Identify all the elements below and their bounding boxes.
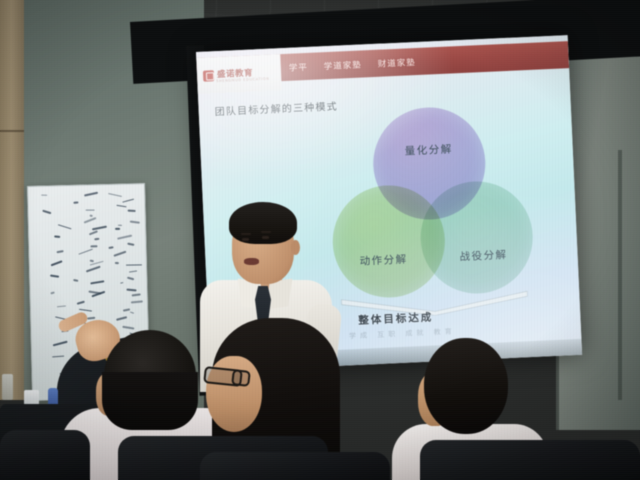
site-logo[interactable]: 盛诺教育 SHENGNUO EDUCATION bbox=[196, 54, 282, 94]
presenter-mouth bbox=[244, 258, 259, 265]
nav-item-0[interactable]: 学平 bbox=[289, 60, 309, 73]
presenter-brow-left bbox=[241, 233, 251, 235]
wall-column bbox=[0, 0, 26, 400]
slide-title: 团队目标分解的三种模式 bbox=[214, 98, 338, 119]
chair-far-left bbox=[0, 430, 90, 480]
presenter-eye-right bbox=[262, 236, 269, 239]
chair-center bbox=[200, 452, 390, 480]
nav-item-1[interactable]: 学道家塾 bbox=[323, 58, 362, 72]
attendee-right-head bbox=[424, 338, 508, 434]
wall-pipe bbox=[618, 150, 622, 400]
venn-label-top: 量化分解 bbox=[404, 141, 453, 158]
attendee-center-glasses-lens bbox=[231, 369, 251, 387]
venn-diagram: 量化分解 动作分解 战役分解 bbox=[327, 103, 536, 312]
chair-right bbox=[420, 440, 640, 480]
venn-label-left: 动作分解 bbox=[359, 251, 408, 268]
classroom-photo: 盛诺教育 SHENGNUO EDUCATION 学平 学道家塾 财道家塾 团队目… bbox=[0, 0, 640, 480]
venn-label-right: 战役分解 bbox=[459, 247, 508, 264]
nav-item-2[interactable]: 财道家塾 bbox=[377, 56, 416, 70]
slide-watermark: 学成 互职 成就 教育 bbox=[349, 327, 456, 342]
presenter-brow-right bbox=[261, 231, 271, 233]
attendee-left-nape bbox=[102, 372, 198, 430]
site-nav: 学平 学道家塾 财道家塾 bbox=[288, 48, 416, 81]
slide-bottom-label: 整体目标达成 bbox=[358, 310, 434, 328]
drinking-glass bbox=[2, 374, 13, 400]
presenter-eye-left bbox=[242, 238, 249, 241]
logo-mark-icon bbox=[203, 70, 214, 81]
presenter-ear bbox=[291, 240, 300, 255]
